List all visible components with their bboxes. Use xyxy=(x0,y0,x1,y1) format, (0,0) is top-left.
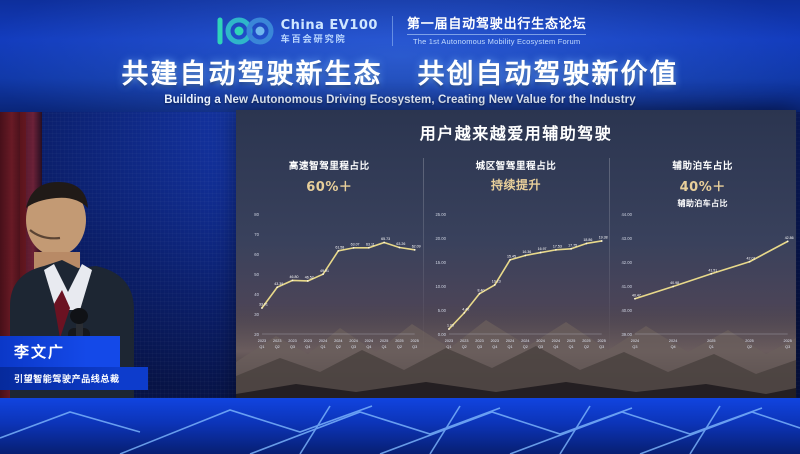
svg-text:25.00: 25.00 xyxy=(435,212,446,217)
chart-highway-mileage: 2030405060708033.0143.3946.8046.5249.916… xyxy=(236,200,423,360)
svg-text:Q3: Q3 xyxy=(633,345,638,349)
header-logo-row: China EV100 车百会研究院 第一届自动驾驶出行生态论坛 The 1st… xyxy=(0,8,800,54)
column-heading: 辅助泊车占比 xyxy=(609,158,796,172)
svg-text:2023: 2023 xyxy=(460,339,468,343)
svg-text:2024: 2024 xyxy=(669,339,677,343)
header-divider xyxy=(392,16,393,46)
svg-text:4.40: 4.40 xyxy=(462,307,469,311)
svg-text:2024: 2024 xyxy=(521,339,529,343)
svg-text:2024: 2024 xyxy=(349,339,357,343)
svg-text:2024: 2024 xyxy=(631,339,639,343)
svg-text:2023: 2023 xyxy=(258,339,266,343)
slide-column-highway: 高速智驾里程占比 60%＋ 2030405060708033.0143.3946… xyxy=(236,154,423,420)
svg-text:Q1: Q1 xyxy=(568,345,573,349)
slide-columns: 高速智驾里程占比 60%＋ 2030405060708033.0143.3946… xyxy=(236,154,796,420)
svg-text:2024: 2024 xyxy=(536,339,544,343)
svg-text:Q2: Q2 xyxy=(747,345,752,349)
svg-text:Q4: Q4 xyxy=(553,345,558,349)
svg-text:2025: 2025 xyxy=(746,339,754,343)
svg-text:42.01: 42.01 xyxy=(747,256,756,260)
slide-column-parking: 辅助泊车占比 40%＋ 辅助泊车占比 39.0040.0041.0042.004… xyxy=(609,154,796,420)
svg-text:Q1: Q1 xyxy=(259,345,264,349)
svg-text:40.47: 40.47 xyxy=(632,293,641,297)
logo-brand-cn: 车百会研究院 xyxy=(281,35,347,44)
china-ev100-logo: China EV100 车百会研究院 xyxy=(214,16,378,46)
svg-text:2023: 2023 xyxy=(288,339,296,343)
svg-text:Q1: Q1 xyxy=(321,345,326,349)
column-heading: 高速智驾里程占比 xyxy=(236,158,423,172)
svg-text:43.00: 43.00 xyxy=(622,236,633,241)
svg-text:17.75: 17.75 xyxy=(568,243,577,247)
slide-title: 用户越来越爱用辅助驾驶 xyxy=(236,120,796,144)
svg-text:80: 80 xyxy=(254,212,259,217)
svg-text:2024: 2024 xyxy=(334,339,342,343)
svg-text:2023: 2023 xyxy=(444,339,452,343)
svg-text:2025: 2025 xyxy=(410,339,418,343)
svg-text:Q3: Q3 xyxy=(538,345,543,349)
svg-text:8.40: 8.40 xyxy=(477,288,484,292)
svg-text:0.00: 0.00 xyxy=(437,332,446,337)
svg-text:10.23: 10.23 xyxy=(491,279,500,283)
svg-text:Q2: Q2 xyxy=(336,345,341,349)
svg-text:2025: 2025 xyxy=(582,339,590,343)
svg-text:17.53: 17.53 xyxy=(553,244,562,248)
svg-text:2024: 2024 xyxy=(506,339,514,343)
svg-text:Q2: Q2 xyxy=(522,345,527,349)
svg-text:44.00: 44.00 xyxy=(622,212,633,217)
svg-text:Q3: Q3 xyxy=(290,345,295,349)
logo-brand-en: China EV100 xyxy=(281,19,378,32)
svg-text:Q2: Q2 xyxy=(275,345,280,349)
chart-assisted-parking: 39.0040.0041.0042.0043.0044.0040.4740.98… xyxy=(609,200,796,360)
svg-text:2025: 2025 xyxy=(395,339,403,343)
speaker-role: 引望智能驾驶产品线总裁 xyxy=(0,367,148,390)
svg-text:10.00: 10.00 xyxy=(435,284,446,289)
forum-rule xyxy=(407,34,586,35)
svg-text:63.26: 63.26 xyxy=(396,242,405,246)
column-heading: 城区智驾里程占比 xyxy=(423,158,610,172)
svg-text:2023: 2023 xyxy=(304,339,312,343)
floor-light-pattern xyxy=(0,398,800,454)
svg-text:Q1: Q1 xyxy=(382,345,387,349)
chart-urban-mileage: 0.005.0010.0015.0020.0025.001.034.408.40… xyxy=(423,200,610,360)
svg-text:5.00: 5.00 xyxy=(437,308,446,313)
svg-text:16.97: 16.97 xyxy=(537,247,546,251)
svg-text:40.00: 40.00 xyxy=(622,308,633,313)
svg-text:15.45: 15.45 xyxy=(507,254,516,258)
svg-text:46.80: 46.80 xyxy=(290,275,299,279)
svg-text:60: 60 xyxy=(254,252,259,257)
svg-text:Q2: Q2 xyxy=(461,345,466,349)
stage-floor xyxy=(0,398,800,454)
svg-text:65.73: 65.73 xyxy=(381,237,390,241)
svg-text:41.00: 41.00 xyxy=(622,284,633,289)
event-header-band: China EV100 车百会研究院 第一届自动驾驶出行生态论坛 The 1st… xyxy=(0,0,800,112)
forum-title-cn: 第一届自动驾驶出行生态论坛 xyxy=(407,17,586,30)
svg-text:Q1: Q1 xyxy=(709,345,714,349)
svg-text:2023: 2023 xyxy=(490,339,498,343)
svg-text:2025: 2025 xyxy=(707,339,715,343)
svg-text:46.52: 46.52 xyxy=(305,276,314,280)
svg-text:2024: 2024 xyxy=(319,339,327,343)
svg-text:2024: 2024 xyxy=(551,339,559,343)
svg-text:Q3: Q3 xyxy=(786,345,791,349)
speaker-name: 李文广 xyxy=(0,336,120,367)
svg-text:49.91: 49.91 xyxy=(320,269,329,273)
svg-text:2023: 2023 xyxy=(475,339,483,343)
svg-text:Q4: Q4 xyxy=(366,345,371,349)
svg-text:30: 30 xyxy=(254,312,259,317)
svg-text:41.51: 41.51 xyxy=(709,268,718,272)
event-slogan: 共建自动驾驶新生态 共创自动驾驶新价值 Building a New Auton… xyxy=(0,52,800,106)
svg-text:20: 20 xyxy=(254,332,259,337)
column-value: 40%＋ xyxy=(609,176,796,195)
svg-text:Q3: Q3 xyxy=(599,345,604,349)
svg-text:20.00: 20.00 xyxy=(435,236,446,241)
svg-text:40: 40 xyxy=(254,292,259,297)
svg-text:43.39: 43.39 xyxy=(274,282,283,286)
svg-text:Q2: Q2 xyxy=(397,345,402,349)
svg-text:19.38: 19.38 xyxy=(598,236,607,240)
svg-text:Q1: Q1 xyxy=(507,345,512,349)
slogan-cn-left: 共建自动驾驶新生态 xyxy=(121,59,382,89)
svg-text:Q4: Q4 xyxy=(492,345,497,349)
svg-text:40.98: 40.98 xyxy=(670,281,679,285)
svg-text:Q1: Q1 xyxy=(446,345,451,349)
forum-title-en: The 1st Autonomous Mobility Ecosystem Fo… xyxy=(413,38,580,46)
svg-text:Q4: Q4 xyxy=(671,345,676,349)
svg-text:Q4: Q4 xyxy=(305,345,310,349)
svg-text:62.09: 62.09 xyxy=(412,244,421,248)
slogan-en: Building a New Autonomous Driving Ecosys… xyxy=(0,94,800,106)
svg-text:42.00: 42.00 xyxy=(622,260,633,265)
svg-text:2025: 2025 xyxy=(567,339,575,343)
svg-text:Q3: Q3 xyxy=(351,345,356,349)
svg-text:2025: 2025 xyxy=(597,339,605,343)
svg-text:2025: 2025 xyxy=(380,339,388,343)
svg-text:2023: 2023 xyxy=(273,339,281,343)
svg-text:1.03: 1.03 xyxy=(447,324,454,328)
slogan-cn-right: 共创自动驾驶新价值 xyxy=(418,59,679,89)
ev100-mark-icon xyxy=(214,16,276,46)
svg-text:Q3: Q3 xyxy=(477,345,482,349)
svg-text:70: 70 xyxy=(254,232,259,237)
svg-text:16.36: 16.36 xyxy=(522,250,531,254)
svg-text:33.01: 33.01 xyxy=(259,303,268,307)
svg-text:63.07: 63.07 xyxy=(351,242,360,246)
svg-text:61.58: 61.58 xyxy=(335,245,344,249)
svg-text:Q3: Q3 xyxy=(412,345,417,349)
presentation-slide: 用户越来越爱用辅助驾驶 高速智驾里程占比 60%＋ 20304050607080… xyxy=(236,110,796,420)
broadcast-stage: China EV100 车百会研究院 第一届自动驾驶出行生态论坛 The 1st… xyxy=(0,0,800,454)
svg-text:15.00: 15.00 xyxy=(435,260,446,265)
column-value: 60%＋ xyxy=(236,176,423,195)
svg-text:2025: 2025 xyxy=(784,339,792,343)
speaker-lower-third: 李文广 引望智能驾驶产品线总裁 xyxy=(0,336,148,390)
forum-title-block: 第一届自动驾驶出行生态论坛 The 1st Autonomous Mobilit… xyxy=(407,17,586,46)
svg-text:2024: 2024 xyxy=(365,339,373,343)
svg-text:Q2: Q2 xyxy=(584,345,589,349)
svg-text:42.86: 42.86 xyxy=(785,236,794,240)
svg-text:63.11: 63.11 xyxy=(366,242,375,246)
svg-text:39.00: 39.00 xyxy=(622,332,633,337)
svg-text:18.86: 18.86 xyxy=(583,238,592,242)
column-value: 持续提升 xyxy=(423,176,610,193)
slide-column-urban: 城区智驾里程占比 持续提升 0.005.0010.0015.0020.0025.… xyxy=(423,154,610,420)
svg-text:50: 50 xyxy=(254,272,259,277)
